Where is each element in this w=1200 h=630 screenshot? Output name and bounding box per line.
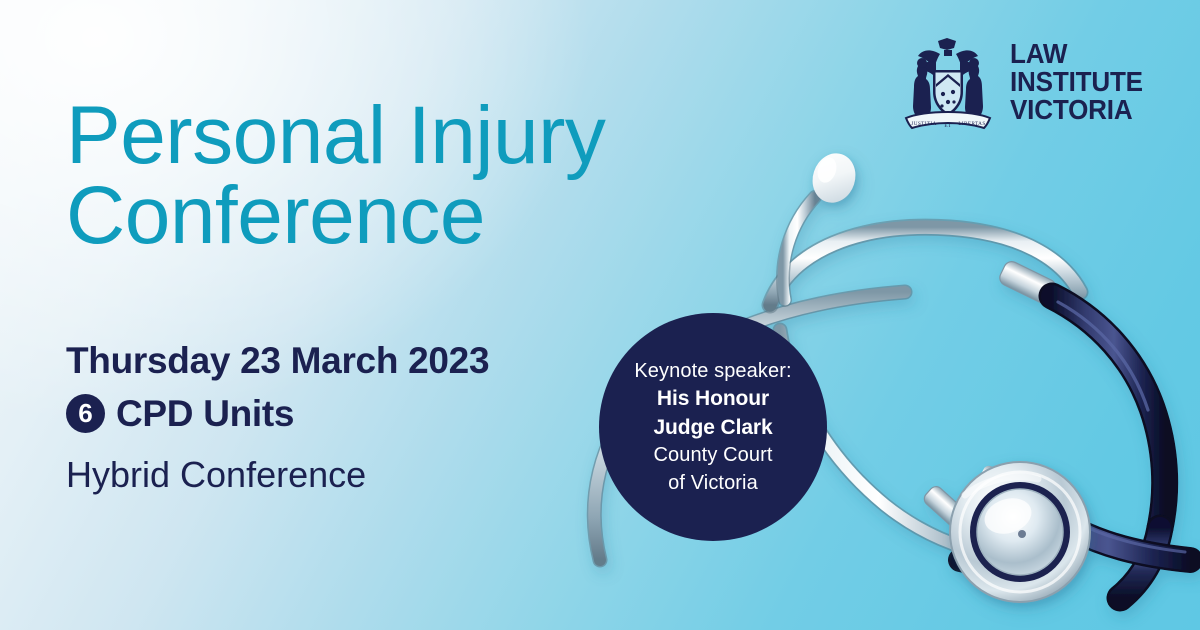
law-institute-crest-icon: JUSTITIA ET LIBERTAS: [900, 32, 996, 132]
keynote-org-line-1: County Court: [653, 443, 772, 467]
crest-motto-left: JUSTITIA: [911, 121, 936, 127]
logo-line-1: LAW: [1010, 40, 1143, 68]
keynote-name-line-2: Judge Clark: [653, 415, 772, 441]
page-title: Personal Injury Conference: [66, 96, 686, 257]
event-date: Thursday 23 March 2023: [66, 341, 586, 382]
cpd-units-row: 6 CPD Units: [66, 394, 586, 433]
keynote-org-line-2: of Victoria: [668, 471, 758, 495]
law-institute-victoria-logo: JUSTITIA ET LIBERTAS LAW INSTITUTE VICTO…: [900, 32, 1153, 132]
conference-format: Hybrid Conference: [66, 455, 586, 495]
event-promo-banner: Personal Injury Conference Thursday 23 M…: [0, 0, 1200, 630]
keynote-name-line-1: His Honour: [657, 386, 769, 412]
crest-motto-mid: ET: [945, 123, 953, 129]
cpd-count-badge: 6: [66, 394, 105, 433]
title-line-1: Personal Injury: [66, 96, 686, 176]
title-line-2: Conference: [66, 176, 686, 256]
logo-line-2: INSTITUTE: [1010, 68, 1143, 96]
keynote-label: Keynote speaker:: [634, 359, 791, 383]
logo-wordmark: LAW INSTITUTE VICTORIA: [1010, 40, 1143, 123]
keynote-speaker-badge: Keynote speaker: His Honour Judge Clark …: [599, 313, 827, 541]
cpd-units-label: CPD Units: [116, 395, 294, 432]
event-details: Thursday 23 March 2023 6 CPD Units Hybri…: [66, 341, 586, 494]
crest-motto-right: LIBERTAS: [958, 121, 985, 127]
logo-line-3: VICTORIA: [1010, 96, 1143, 124]
